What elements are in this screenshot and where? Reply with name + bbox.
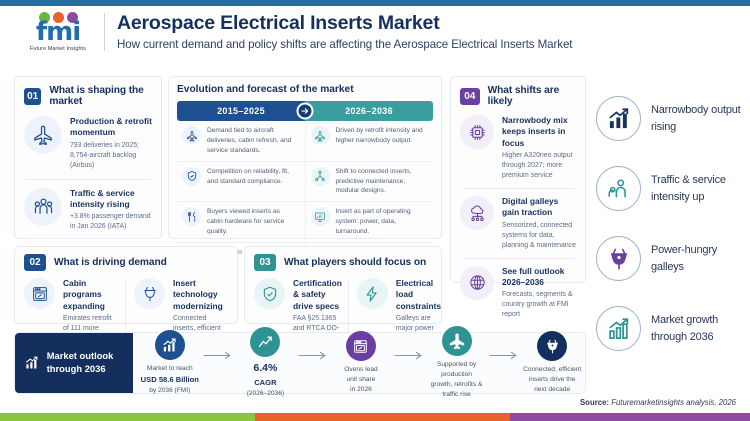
lightning-bolt-icon xyxy=(357,278,388,309)
people-group-icon xyxy=(596,166,641,211)
outlook-step-4-text: Supported by production growth, retrofit… xyxy=(424,360,490,400)
evolution-cell-right: Driven by retrofit intensity and higher … xyxy=(306,121,434,161)
table-row: Buyers viewed inserts as cabin hardware … xyxy=(177,202,433,243)
market-outlook-strip: Market outlook through 2036 Market to re… xyxy=(14,332,586,394)
oven-icon xyxy=(346,331,376,361)
step-line-2: inserts drive the xyxy=(523,375,581,385)
section-04-divider-1 xyxy=(462,188,574,189)
section-01-divider xyxy=(26,179,150,180)
highlight-label: Market growth through 2036 xyxy=(651,312,746,345)
section-04-divider-2 xyxy=(462,258,574,259)
step-value: CAGR xyxy=(254,378,276,387)
step-line-3: traffic rise xyxy=(424,390,490,400)
section-04-item-1: Narrowbody mix keeps inserts in focus Hi… xyxy=(460,115,576,181)
arrow-connector-4 xyxy=(489,351,519,360)
evolution-header-row: 2015–2025 2026–2036 xyxy=(177,101,433,121)
step-line-1: Market to reach xyxy=(141,364,199,374)
outlook-step-5: Connected, efficient inserts drive the n… xyxy=(519,331,585,395)
item-heading: See full outlook 2026–2036 xyxy=(502,266,576,289)
oven-icon xyxy=(24,278,55,309)
outlook-step-3: Ovens lead unit share in 2026 xyxy=(328,331,394,395)
table-row: Demand tied to aircraft deliveries, cabi… xyxy=(177,121,433,162)
step-line-3: next decade xyxy=(523,385,581,395)
airplane-icon xyxy=(24,116,62,154)
outlook-banner-label: Market outlook through 2036 xyxy=(47,350,124,375)
airplane-icon xyxy=(182,126,201,145)
arrow-connector-2 xyxy=(298,351,328,360)
shield-check-icon xyxy=(254,278,285,309)
section-01-number: 01 xyxy=(24,88,41,105)
evolution-cell-right: Insert as part of operating system: powe… xyxy=(306,202,434,242)
cell-text: Competition on reliability, fit, and sta… xyxy=(207,167,298,187)
plug-icon xyxy=(537,331,567,361)
shield-icon xyxy=(182,167,201,186)
section-04-item-2-text: Digital galleys gain traction Sensorized… xyxy=(502,196,576,251)
section-01-item-1-text: Production & retrofit momentum 793 deliv… xyxy=(70,116,152,171)
highlight-label: Traffic & service intensity up xyxy=(651,172,746,205)
step-line-1: Ovens lead xyxy=(344,365,377,375)
section-01-header: 01 What is shaping the market xyxy=(24,85,152,107)
item-heading: Digital galleys gain traction xyxy=(502,196,576,219)
section-02-header: 02 What is driving demand xyxy=(24,254,228,271)
infographic-page: fmi Future Market Insights Aerospace Ele… xyxy=(0,0,750,421)
cell-text: Buyers viewed inserts as cabin hardware … xyxy=(207,207,298,237)
highlight-item-2: Traffic & service intensity up xyxy=(596,166,746,211)
arrow-connector-3 xyxy=(394,351,424,360)
highlight-label: Narrowbody output rising xyxy=(651,102,746,135)
section-04-card: 04 What shifts are likely Narrowbody mix… xyxy=(450,76,586,283)
section-02-card: 02 What is driving demand Cabin programs… xyxy=(14,246,238,324)
highlight-item-4: Market growth through 2036 xyxy=(596,306,746,351)
evolution-col-right-label: 2026–2036 xyxy=(305,101,433,121)
globe-icon xyxy=(460,266,494,300)
chip-icon xyxy=(460,115,494,149)
evolution-cell-left: Demand tied to aircraft deliveries, cabi… xyxy=(177,121,306,161)
monitor-chart-icon xyxy=(311,207,330,226)
cell-text: Insert as part of operating system: powe… xyxy=(336,207,427,237)
item-body: Sensorized, connected systems for data, … xyxy=(502,221,576,251)
section-01-item-2-text: Traffic & service intensity rising +3.8%… xyxy=(70,188,152,233)
highlight-item-3: Power-hungry galleys xyxy=(596,236,746,281)
bar-chart-up-icon xyxy=(24,350,40,376)
section-01-title: What is shaping the market xyxy=(49,85,152,107)
highlight-label: Power-hungry galleys xyxy=(651,242,746,275)
bar-chart-up-icon xyxy=(596,306,641,351)
cell-text: Driven by retrofit intensity and higher … xyxy=(336,126,427,146)
outlook-step-2-text: 6.4% CAGR (2026–2036) xyxy=(247,361,284,399)
top-color-band xyxy=(0,0,750,6)
cell-text: Shift to connected inserts, predictive m… xyxy=(336,167,427,197)
section-04-item-2: Digital galleys gain traction Sensorized… xyxy=(460,196,576,251)
section-01-item-2: Traffic & service intensity rising +3.8%… xyxy=(24,188,152,233)
evolution-card: Evolution and forecast of the market 201… xyxy=(168,76,442,239)
step-line-1: Supported by production xyxy=(424,360,490,380)
section-04-item-3-text: See full outlook 2026–2036 Forecasts, se… xyxy=(502,266,576,321)
arrow-right-icon xyxy=(297,103,314,120)
airplane-icon xyxy=(311,126,330,145)
step-line-3: (2026–2036) xyxy=(247,389,284,399)
section-03-number: 03 xyxy=(254,254,276,271)
outlook-step-1-text: Market to reach USD 58.6 Billion by 2036… xyxy=(141,364,199,396)
evolution-cell-left: Buyers viewed inserts as cabin hardware … xyxy=(177,202,306,242)
section-02-number: 02 xyxy=(24,254,46,271)
highlights-column: Narrowbody output rising Traffic & servi… xyxy=(596,96,746,351)
page-title: Aerospace Electrical Inserts Market xyxy=(117,13,572,34)
item-heading: Electrical load constraints xyxy=(396,278,441,312)
logo-tagline: Future Market Insights xyxy=(30,46,86,52)
item-heading: Narrowbody mix keeps inserts in focus xyxy=(502,115,576,149)
section-02-title: What is driving demand xyxy=(54,257,167,268)
bar-chart-up-icon xyxy=(596,96,641,141)
evolution-cell-right: Shift to connected inserts, predictive m… xyxy=(306,162,434,202)
page-header: fmi Future Market Insights Aerospace Ele… xyxy=(0,8,750,56)
logo-wordmark: fmi xyxy=(36,19,80,45)
plug-icon xyxy=(134,278,165,309)
evolution-cell-left: Competition on reliability, fit, and sta… xyxy=(177,162,306,202)
source-text: Futuremarketinsights analysis, 2026 xyxy=(611,398,736,407)
item-body: Higher A320neo output through 2027; more… xyxy=(502,151,576,181)
step-value: USD 58.6 Billion xyxy=(141,375,199,384)
outlook-step-4: Supported by production growth, retrofit… xyxy=(424,326,490,400)
section-04-item-3[interactable]: See full outlook 2026–2036 Forecasts, se… xyxy=(460,266,576,321)
page-subtitle: How current demand and policy shifts are… xyxy=(117,38,572,51)
highlight-item-1: Narrowbody output rising xyxy=(596,96,746,141)
section-03-title: What players should focus on xyxy=(284,257,426,268)
item-heading: Insert technology modernizing xyxy=(173,278,228,312)
plug-icon xyxy=(596,236,641,281)
section-04-item-1-text: Narrowbody mix keeps inserts in focus Hi… xyxy=(502,115,576,181)
section-01-item-1: Production & retrofit momentum 793 deliv… xyxy=(24,116,152,171)
outlook-step-5-text: Connected, efficient inserts drive the n… xyxy=(523,365,581,395)
cell-text: Demand tied to aircraft deliveries, cabi… xyxy=(207,126,298,156)
section-04-header: 04 What shifts are likely xyxy=(460,85,576,107)
fmi-logo: fmi Future Market Insights xyxy=(0,12,100,52)
evolution-col-left-label: 2015–2025 xyxy=(177,101,305,121)
section-01-card: 01 What is shaping the market Production… xyxy=(14,76,162,239)
arrow-connector-1 xyxy=(203,351,233,360)
outlook-step-2: 6.4% CAGR (2026–2036) xyxy=(233,327,299,399)
item-heading: Certification & safety drive specs xyxy=(293,278,342,312)
step-line-1: Connected, efficient xyxy=(523,365,581,375)
item-body: +3.8% passenger demand in Jan 2026 (IATA… xyxy=(70,212,152,232)
section-04-number: 04 xyxy=(460,88,480,105)
bottom-color-band xyxy=(0,413,750,421)
table-row: Competition on reliability, fit, and sta… xyxy=(177,162,433,203)
cloud-network-icon xyxy=(460,196,494,230)
item-heading: Production & retrofit momentum xyxy=(70,116,152,139)
outlook-step-1: Market to reach USD 58.6 Billion by 2036… xyxy=(137,330,203,396)
outlook-step-3-text: Ovens lead unit share in 2026 xyxy=(344,365,377,395)
section-03-header: 03 What players should focus on xyxy=(254,254,432,271)
step-line-2: unit share xyxy=(344,375,377,385)
cutlery-icon xyxy=(182,207,201,226)
step-line-3: in 2026 xyxy=(344,385,377,395)
item-body: 793 deliveries in 2025; 8,754-aircraft b… xyxy=(70,141,152,171)
bar-chart-up-icon xyxy=(155,330,185,360)
item-heading: Cabin programs expanding xyxy=(63,278,118,312)
airplane-icon xyxy=(442,326,472,356)
source-label: Source: xyxy=(580,398,609,407)
section-04-title: What shifts are likely xyxy=(488,85,576,107)
header-divider xyxy=(104,13,105,51)
step-line-2: growth, retrofits & xyxy=(424,380,490,390)
network-node-icon xyxy=(311,167,330,186)
step-big-value: 6.4% xyxy=(247,361,284,377)
evolution-title: Evolution and forecast of the market xyxy=(177,84,433,95)
step-line-3: by 2036 (FMI) xyxy=(141,386,199,396)
source-note: Source: Futuremarketinsights analysis, 2… xyxy=(580,398,736,407)
line-chart-icon xyxy=(250,327,280,357)
header-text: Aerospace Electrical Inserts Market How … xyxy=(117,13,572,50)
outlook-banner: Market outlook through 2036 xyxy=(15,333,133,393)
item-body: Forecasts, segments & country growth at … xyxy=(502,290,576,320)
item-heading: Traffic & service intensity rising xyxy=(70,188,152,211)
section-03-card: 03 What players should focus on Certific… xyxy=(244,246,442,324)
people-group-icon xyxy=(24,188,62,226)
